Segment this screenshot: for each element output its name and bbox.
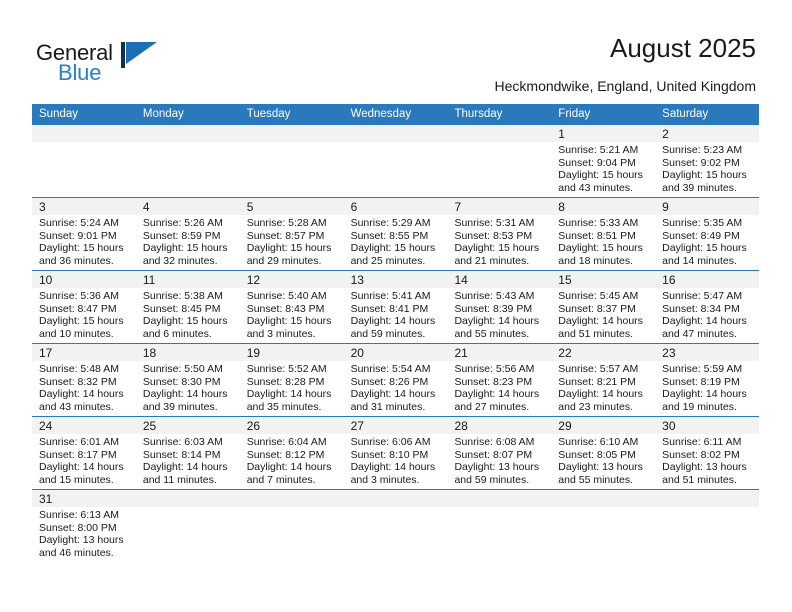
weekday-header-friday: Friday — [551, 104, 655, 125]
sunset-text: Sunset: 8:37 PM — [558, 303, 648, 316]
daylight-text-cont: and 51 minutes. — [558, 328, 648, 341]
calendar-day-cell-empty — [136, 125, 240, 197]
sunset-text: Sunset: 8:47 PM — [39, 303, 129, 316]
day-number: 6 — [351, 200, 358, 214]
day-number: 26 — [247, 419, 260, 433]
daylight-text-cont: and 31 minutes. — [351, 401, 441, 414]
day-sun-info — [655, 507, 759, 509]
day-number-band: 24 — [32, 417, 136, 434]
day-number-band: 29 — [551, 417, 655, 434]
day-number: 27 — [351, 419, 364, 433]
day-sun-info: Sunrise: 5:36 AMSunset: 8:47 PMDaylight:… — [32, 288, 136, 340]
sunrise-text: Sunrise: 5:31 AM — [454, 217, 544, 230]
daylight-text: Daylight: 13 hours — [662, 461, 752, 474]
day-number-band — [136, 125, 240, 142]
daylight-text: Daylight: 14 hours — [143, 461, 233, 474]
day-number-band: 5 — [240, 198, 344, 215]
day-sun-info: Sunrise: 6:13 AMSunset: 8:00 PMDaylight:… — [32, 507, 136, 559]
day-sun-info — [344, 142, 448, 144]
day-number: 31 — [39, 492, 52, 506]
calendar-day-cell-empty — [32, 125, 136, 197]
daylight-text-cont: and 43 minutes. — [39, 401, 129, 414]
day-sun-info: Sunrise: 5:33 AMSunset: 8:51 PMDaylight:… — [551, 215, 655, 267]
day-sun-info: Sunrise: 5:31 AMSunset: 8:53 PMDaylight:… — [447, 215, 551, 267]
day-number-band: 22 — [551, 344, 655, 361]
daylight-text-cont: and 32 minutes. — [143, 255, 233, 268]
day-sun-info — [240, 142, 344, 144]
sunrise-text: Sunrise: 6:03 AM — [143, 436, 233, 449]
day-sun-info: Sunrise: 6:04 AMSunset: 8:12 PMDaylight:… — [240, 434, 344, 486]
sunrise-text: Sunrise: 5:59 AM — [662, 363, 752, 376]
sunrise-text: Sunrise: 6:01 AM — [39, 436, 129, 449]
daylight-text-cont: and 55 minutes. — [558, 474, 648, 487]
day-sun-info: Sunrise: 5:40 AMSunset: 8:43 PMDaylight:… — [240, 288, 344, 340]
day-sun-info: Sunrise: 5:57 AMSunset: 8:21 PMDaylight:… — [551, 361, 655, 413]
day-sun-info: Sunrise: 5:43 AMSunset: 8:39 PMDaylight:… — [447, 288, 551, 340]
daylight-text-cont: and 11 minutes. — [143, 474, 233, 487]
weekday-header-saturday: Saturday — [655, 104, 759, 125]
calendar-day-cell[interactable]: 27Sunrise: 6:06 AMSunset: 8:10 PMDayligh… — [344, 417, 448, 489]
calendar-day-cell-empty — [655, 490, 759, 570]
sunset-text: Sunset: 8:51 PM — [558, 230, 648, 243]
calendar-day-cell[interactable]: 29Sunrise: 6:10 AMSunset: 8:05 PMDayligh… — [551, 417, 655, 489]
calendar-day-cell[interactable]: 22Sunrise: 5:57 AMSunset: 8:21 PMDayligh… — [551, 344, 655, 416]
sunset-text: Sunset: 8:23 PM — [454, 376, 544, 389]
sunset-text: Sunset: 8:32 PM — [39, 376, 129, 389]
calendar-day-cell[interactable]: 18Sunrise: 5:50 AMSunset: 8:30 PMDayligh… — [136, 344, 240, 416]
daylight-text: Daylight: 15 hours — [143, 315, 233, 328]
day-number-band: 27 — [344, 417, 448, 434]
day-number-band: 19 — [240, 344, 344, 361]
day-number-band — [447, 125, 551, 142]
sunset-text: Sunset: 8:12 PM — [247, 449, 337, 462]
calendar-day-cell[interactable]: 19Sunrise: 5:52 AMSunset: 8:28 PMDayligh… — [240, 344, 344, 416]
day-number-band: 21 — [447, 344, 551, 361]
day-sun-info: Sunrise: 5:24 AMSunset: 9:01 PMDaylight:… — [32, 215, 136, 267]
day-sun-info: Sunrise: 6:06 AMSunset: 8:10 PMDaylight:… — [344, 434, 448, 486]
sunrise-text: Sunrise: 5:56 AM — [454, 363, 544, 376]
calendar-day-cell[interactable]: 5Sunrise: 5:28 AMSunset: 8:57 PMDaylight… — [240, 198, 344, 270]
day-sun-info: Sunrise: 5:48 AMSunset: 8:32 PMDaylight:… — [32, 361, 136, 413]
daylight-text-cont: and 59 minutes. — [454, 474, 544, 487]
calendar-week-row: 17Sunrise: 5:48 AMSunset: 8:32 PMDayligh… — [32, 343, 759, 416]
sunset-text: Sunset: 8:19 PM — [662, 376, 752, 389]
calendar-day-cell[interactable]: 23Sunrise: 5:59 AMSunset: 8:19 PMDayligh… — [655, 344, 759, 416]
daylight-text-cont: and 25 minutes. — [351, 255, 441, 268]
day-number: 11 — [143, 273, 155, 287]
sunset-text: Sunset: 9:01 PM — [39, 230, 129, 243]
calendar-day-cell-empty — [344, 490, 448, 570]
daylight-text: Daylight: 15 hours — [39, 242, 129, 255]
calendar-day-cell-empty — [344, 125, 448, 197]
calendar-day-cell[interactable]: 8Sunrise: 5:33 AMSunset: 8:51 PMDaylight… — [551, 198, 655, 270]
daylight-text-cont: and 7 minutes. — [247, 474, 337, 487]
sunrise-text: Sunrise: 6:10 AM — [558, 436, 648, 449]
sunrise-text: Sunrise: 5:45 AM — [558, 290, 648, 303]
sunrise-text: Sunrise: 6:13 AM — [39, 509, 129, 522]
day-number-band: 23 — [655, 344, 759, 361]
daylight-text: Daylight: 15 hours — [454, 242, 544, 255]
day-number-band: 10 — [32, 271, 136, 288]
calendar-day-cell[interactable]: 14Sunrise: 5:43 AMSunset: 8:39 PMDayligh… — [447, 271, 551, 343]
sunset-text: Sunset: 8:26 PM — [351, 376, 441, 389]
day-sun-info: Sunrise: 5:35 AMSunset: 8:49 PMDaylight:… — [655, 215, 759, 267]
day-number-band: 14 — [447, 271, 551, 288]
sunset-text: Sunset: 9:04 PM — [558, 157, 648, 170]
sunrise-text: Sunrise: 6:08 AM — [454, 436, 544, 449]
daylight-text: Daylight: 13 hours — [39, 534, 129, 547]
day-number-band: 1 — [551, 125, 655, 142]
day-number-band: 12 — [240, 271, 344, 288]
daylight-text-cont: and 39 minutes. — [143, 401, 233, 414]
daylight-text: Daylight: 15 hours — [351, 242, 441, 255]
page-title: August 2025 — [610, 33, 756, 64]
page-header: General Blue August 2025 Heckmondwike, E… — [0, 0, 792, 104]
day-number: 19 — [247, 346, 260, 360]
day-sun-info: Sunrise: 5:54 AMSunset: 8:26 PMDaylight:… — [344, 361, 448, 413]
day-sun-info — [136, 142, 240, 144]
daylight-text: Daylight: 14 hours — [247, 461, 337, 474]
calendar-day-cell[interactable]: 11Sunrise: 5:38 AMSunset: 8:45 PMDayligh… — [136, 271, 240, 343]
sunrise-text: Sunrise: 5:38 AM — [143, 290, 233, 303]
day-sun-info: Sunrise: 5:28 AMSunset: 8:57 PMDaylight:… — [240, 215, 344, 267]
day-sun-info — [551, 507, 655, 509]
day-number: 18 — [143, 346, 156, 360]
day-sun-info: Sunrise: 5:45 AMSunset: 8:37 PMDaylight:… — [551, 288, 655, 340]
sunset-text: Sunset: 8:10 PM — [351, 449, 441, 462]
day-number-band: 8 — [551, 198, 655, 215]
day-number: 16 — [662, 273, 675, 287]
calendar-day-cell-empty — [551, 490, 655, 570]
day-sun-info — [344, 507, 448, 509]
day-number-band — [240, 490, 344, 507]
daylight-text: Daylight: 14 hours — [247, 388, 337, 401]
calendar-day-cell[interactable]: 24Sunrise: 6:01 AMSunset: 8:17 PMDayligh… — [32, 417, 136, 489]
weekday-header-row: Sunday Monday Tuesday Wednesday Thursday… — [32, 104, 759, 125]
sunset-text: Sunset: 8:00 PM — [39, 522, 129, 535]
daylight-text: Daylight: 13 hours — [454, 461, 544, 474]
daylight-text-cont: and 29 minutes. — [247, 255, 337, 268]
sunrise-text: Sunrise: 6:11 AM — [662, 436, 752, 449]
day-number-band — [240, 125, 344, 142]
daylight-text: Daylight: 14 hours — [143, 388, 233, 401]
day-number: 10 — [39, 273, 52, 287]
sunrise-text: Sunrise: 5:47 AM — [662, 290, 752, 303]
calendar-week-row: 3Sunrise: 5:24 AMSunset: 9:01 PMDaylight… — [32, 197, 759, 270]
sunset-text: Sunset: 8:30 PM — [143, 376, 233, 389]
calendar-day-cell[interactable]: 2Sunrise: 5:23 AMSunset: 9:02 PMDaylight… — [655, 125, 759, 197]
sunset-text: Sunset: 8:55 PM — [351, 230, 441, 243]
day-number-band: 13 — [344, 271, 448, 288]
sunset-text: Sunset: 8:53 PM — [454, 230, 544, 243]
day-sun-info: Sunrise: 6:10 AMSunset: 8:05 PMDaylight:… — [551, 434, 655, 486]
sunrise-text: Sunrise: 5:24 AM — [39, 217, 129, 230]
day-sun-info: Sunrise: 5:50 AMSunset: 8:30 PMDaylight:… — [136, 361, 240, 413]
day-number: 8 — [558, 200, 565, 214]
daylight-text: Daylight: 15 hours — [39, 315, 129, 328]
sunset-text: Sunset: 8:02 PM — [662, 449, 752, 462]
daylight-text: Daylight: 14 hours — [351, 461, 441, 474]
day-sun-info: Sunrise: 6:03 AMSunset: 8:14 PMDaylight:… — [136, 434, 240, 486]
sunrise-text: Sunrise: 5:21 AM — [558, 144, 648, 157]
day-sun-info: Sunrise: 5:21 AMSunset: 9:04 PMDaylight:… — [551, 142, 655, 194]
sunrise-text: Sunrise: 6:06 AM — [351, 436, 441, 449]
calendar-day-cell[interactable]: 1Sunrise: 5:21 AMSunset: 9:04 PMDaylight… — [551, 125, 655, 197]
day-sun-info — [447, 507, 551, 509]
day-sun-info: Sunrise: 5:23 AMSunset: 9:02 PMDaylight:… — [655, 142, 759, 194]
sunset-text: Sunset: 8:21 PM — [558, 376, 648, 389]
day-sun-info: Sunrise: 5:59 AMSunset: 8:19 PMDaylight:… — [655, 361, 759, 413]
calendar-day-cell[interactable]: 16Sunrise: 5:47 AMSunset: 8:34 PMDayligh… — [655, 271, 759, 343]
daylight-text-cont: and 3 minutes. — [247, 328, 337, 341]
day-number: 1 — [558, 127, 565, 141]
sunrise-text: Sunrise: 5:54 AM — [351, 363, 441, 376]
brand-logo[interactable]: General Blue — [36, 40, 216, 88]
daylight-text-cont: and 18 minutes. — [558, 255, 648, 268]
daylight-text-cont: and 35 minutes. — [247, 401, 337, 414]
day-number-band: 16 — [655, 271, 759, 288]
calendar-weeks: 1Sunrise: 5:21 AMSunset: 9:04 PMDaylight… — [32, 125, 759, 570]
day-number-band: 25 — [136, 417, 240, 434]
daylight-text-cont: and 21 minutes. — [454, 255, 544, 268]
day-number: 15 — [558, 273, 571, 287]
sunrise-text: Sunrise: 5:41 AM — [351, 290, 441, 303]
day-number: 21 — [454, 346, 467, 360]
daylight-text-cont: and 27 minutes. — [454, 401, 544, 414]
day-sun-info: Sunrise: 5:41 AMSunset: 8:41 PMDaylight:… — [344, 288, 448, 340]
calendar-day-cell[interactable]: 12Sunrise: 5:40 AMSunset: 8:43 PMDayligh… — [240, 271, 344, 343]
sunrise-text: Sunrise: 5:52 AM — [247, 363, 337, 376]
sunset-text: Sunset: 8:45 PM — [143, 303, 233, 316]
daylight-text: Daylight: 15 hours — [247, 315, 337, 328]
day-number: 7 — [454, 200, 461, 214]
day-number: 14 — [454, 273, 467, 287]
day-sun-info: Sunrise: 5:29 AMSunset: 8:55 PMDaylight:… — [344, 215, 448, 267]
weekday-header-monday: Monday — [136, 104, 240, 125]
day-number-band: 18 — [136, 344, 240, 361]
brand-name-blue: Blue — [58, 60, 101, 86]
day-number-band: 15 — [551, 271, 655, 288]
daylight-text-cont: and 19 minutes. — [662, 401, 752, 414]
sunrise-text: Sunrise: 5:40 AM — [247, 290, 337, 303]
sunrise-text: Sunrise: 5:48 AM — [39, 363, 129, 376]
day-number-band: 26 — [240, 417, 344, 434]
daylight-text-cont: and 23 minutes. — [558, 401, 648, 414]
sunset-text: Sunset: 8:57 PM — [247, 230, 337, 243]
day-sun-info — [447, 142, 551, 144]
calendar-day-cell[interactable]: 9Sunrise: 5:35 AMSunset: 8:49 PMDaylight… — [655, 198, 759, 270]
calendar-day-cell-empty — [240, 490, 344, 570]
day-number-band: 31 — [32, 490, 136, 507]
calendar-day-cell[interactable]: 28Sunrise: 6:08 AMSunset: 8:07 PMDayligh… — [447, 417, 551, 489]
calendar-day-cell-empty — [447, 490, 551, 570]
calendar-day-cell[interactable]: 30Sunrise: 6:11 AMSunset: 8:02 PMDayligh… — [655, 417, 759, 489]
daylight-text: Daylight: 15 hours — [143, 242, 233, 255]
day-sun-info — [240, 507, 344, 509]
daylight-text: Daylight: 15 hours — [662, 169, 752, 182]
daylight-text-cont: and 55 minutes. — [454, 328, 544, 341]
day-number: 5 — [247, 200, 254, 214]
calendar-day-cell-empty — [136, 490, 240, 570]
sunset-text: Sunset: 8:14 PM — [143, 449, 233, 462]
day-sun-info: Sunrise: 6:01 AMSunset: 8:17 PMDaylight:… — [32, 434, 136, 486]
daylight-text: Daylight: 14 hours — [39, 461, 129, 474]
day-number-band — [655, 490, 759, 507]
day-number-band — [551, 490, 655, 507]
sunrise-text: Sunrise: 5:23 AM — [662, 144, 752, 157]
daylight-text-cont: and 15 minutes. — [39, 474, 129, 487]
day-number-band: 11 — [136, 271, 240, 288]
day-number: 30 — [662, 419, 675, 433]
day-number-band — [344, 125, 448, 142]
weekday-header-wednesday: Wednesday — [344, 104, 448, 125]
day-number-band: 17 — [32, 344, 136, 361]
day-number-band: 30 — [655, 417, 759, 434]
day-number-band: 3 — [32, 198, 136, 215]
sunrise-text: Sunrise: 5:36 AM — [39, 290, 129, 303]
calendar-week-row: 31Sunrise: 6:13 AMSunset: 8:00 PMDayligh… — [32, 489, 759, 570]
sunset-text: Sunset: 8:59 PM — [143, 230, 233, 243]
logo-bar-shape — [121, 42, 125, 68]
day-number: 24 — [39, 419, 52, 433]
day-sun-info: Sunrise: 5:56 AMSunset: 8:23 PMDaylight:… — [447, 361, 551, 413]
day-number: 4 — [143, 200, 150, 214]
sunrise-text: Sunrise: 5:43 AM — [454, 290, 544, 303]
daylight-text-cont: and 3 minutes. — [351, 474, 441, 487]
sunset-text: Sunset: 8:41 PM — [351, 303, 441, 316]
daylight-text-cont: and 6 minutes. — [143, 328, 233, 341]
sunrise-text: Sunrise: 5:26 AM — [143, 217, 233, 230]
day-number-band — [136, 490, 240, 507]
day-sun-info: Sunrise: 5:26 AMSunset: 8:59 PMDaylight:… — [136, 215, 240, 267]
sunset-text: Sunset: 8:05 PM — [558, 449, 648, 462]
sunset-text: Sunset: 9:02 PM — [662, 157, 752, 170]
daylight-text: Daylight: 14 hours — [558, 315, 648, 328]
day-number: 25 — [143, 419, 156, 433]
sunrise-text: Sunrise: 5:35 AM — [662, 217, 752, 230]
day-sun-info: Sunrise: 5:52 AMSunset: 8:28 PMDaylight:… — [240, 361, 344, 413]
day-number: 23 — [662, 346, 675, 360]
sunrise-text: Sunrise: 5:29 AM — [351, 217, 441, 230]
daylight-text-cont: and 47 minutes. — [662, 328, 752, 341]
daylight-text-cont: and 39 minutes. — [662, 182, 752, 195]
daylight-text: Daylight: 15 hours — [558, 169, 648, 182]
logo-triangle-shape — [126, 42, 157, 64]
day-number-band: 6 — [344, 198, 448, 215]
calendar-week-row: 24Sunrise: 6:01 AMSunset: 8:17 PMDayligh… — [32, 416, 759, 489]
sunrise-text: Sunrise: 5:33 AM — [558, 217, 648, 230]
sunset-text: Sunset: 8:43 PM — [247, 303, 337, 316]
calendar-day-cell-empty — [447, 125, 551, 197]
day-sun-info: Sunrise: 6:11 AMSunset: 8:02 PMDaylight:… — [655, 434, 759, 486]
weekday-header-tuesday: Tuesday — [240, 104, 344, 125]
day-number-band: 9 — [655, 198, 759, 215]
day-number-band: 4 — [136, 198, 240, 215]
daylight-text-cont: and 10 minutes. — [39, 328, 129, 341]
daylight-text: Daylight: 14 hours — [39, 388, 129, 401]
daylight-text-cont: and 14 minutes. — [662, 255, 752, 268]
sunset-text: Sunset: 8:28 PM — [247, 376, 337, 389]
daylight-text: Daylight: 14 hours — [351, 388, 441, 401]
daylight-text: Daylight: 15 hours — [247, 242, 337, 255]
calendar-day-cell[interactable]: 13Sunrise: 5:41 AMSunset: 8:41 PMDayligh… — [344, 271, 448, 343]
day-number: 12 — [247, 273, 260, 287]
sunrise-text: Sunrise: 6:04 AM — [247, 436, 337, 449]
sunrise-text: Sunrise: 5:57 AM — [558, 363, 648, 376]
day-number: 2 — [662, 127, 669, 141]
daylight-text-cont: and 43 minutes. — [558, 182, 648, 195]
day-sun-info: Sunrise: 6:08 AMSunset: 8:07 PMDaylight:… — [447, 434, 551, 486]
daylight-text-cont: and 59 minutes. — [351, 328, 441, 341]
weekday-header-sunday: Sunday — [32, 104, 136, 125]
day-number: 13 — [351, 273, 364, 287]
day-number-band — [344, 490, 448, 507]
sunrise-text: Sunrise: 5:50 AM — [143, 363, 233, 376]
flag-triangle-icon — [121, 42, 159, 68]
calendar-day-cell[interactable]: 21Sunrise: 5:56 AMSunset: 8:23 PMDayligh… — [447, 344, 551, 416]
calendar-day-cell[interactable]: 7Sunrise: 5:31 AMSunset: 8:53 PMDaylight… — [447, 198, 551, 270]
calendar-week-row: 1Sunrise: 5:21 AMSunset: 9:04 PMDaylight… — [32, 125, 759, 197]
day-number-band: 7 — [447, 198, 551, 215]
calendar-day-cell[interactable]: 31Sunrise: 6:13 AMSunset: 8:00 PMDayligh… — [32, 490, 136, 570]
day-sun-info — [32, 142, 136, 144]
daylight-text: Daylight: 14 hours — [558, 388, 648, 401]
daylight-text-cont: and 36 minutes. — [39, 255, 129, 268]
day-number-band — [447, 490, 551, 507]
day-number-band: 28 — [447, 417, 551, 434]
calendar-day-cell[interactable]: 25Sunrise: 6:03 AMSunset: 8:14 PMDayligh… — [136, 417, 240, 489]
sunset-text: Sunset: 8:34 PM — [662, 303, 752, 316]
daylight-text: Daylight: 14 hours — [454, 388, 544, 401]
calendar-day-cell[interactable]: 10Sunrise: 5:36 AMSunset: 8:47 PMDayligh… — [32, 271, 136, 343]
day-sun-info — [136, 507, 240, 509]
daylight-text: Daylight: 15 hours — [662, 242, 752, 255]
day-number: 17 — [39, 346, 52, 360]
calendar-day-cell[interactable]: 15Sunrise: 5:45 AMSunset: 8:37 PMDayligh… — [551, 271, 655, 343]
day-number: 22 — [558, 346, 571, 360]
daylight-text: Daylight: 14 hours — [662, 388, 752, 401]
day-sun-info: Sunrise: 5:47 AMSunset: 8:34 PMDaylight:… — [655, 288, 759, 340]
day-number-band: 20 — [344, 344, 448, 361]
sunset-text: Sunset: 8:17 PM — [39, 449, 129, 462]
calendar-day-cell[interactable]: 26Sunrise: 6:04 AMSunset: 8:12 PMDayligh… — [240, 417, 344, 489]
sunset-text: Sunset: 8:49 PM — [662, 230, 752, 243]
day-number: 9 — [662, 200, 669, 214]
calendar-table: Sunday Monday Tuesday Wednesday Thursday… — [32, 104, 759, 570]
calendar-day-cell[interactable]: 20Sunrise: 5:54 AMSunset: 8:26 PMDayligh… — [344, 344, 448, 416]
daylight-text-cont: and 46 minutes. — [39, 547, 129, 560]
sunset-text: Sunset: 8:39 PM — [454, 303, 544, 316]
weekday-header-thursday: Thursday — [447, 104, 551, 125]
day-number-band: 2 — [655, 125, 759, 142]
daylight-text: Daylight: 14 hours — [454, 315, 544, 328]
calendar-page: General Blue August 2025 Heckmondwike, E… — [0, 0, 792, 612]
calendar-day-cell[interactable]: 4Sunrise: 5:26 AMSunset: 8:59 PMDaylight… — [136, 198, 240, 270]
calendar-day-cell[interactable]: 3Sunrise: 5:24 AMSunset: 9:01 PMDaylight… — [32, 198, 136, 270]
sunset-text: Sunset: 8:07 PM — [454, 449, 544, 462]
sunrise-text: Sunrise: 5:28 AM — [247, 217, 337, 230]
calendar-day-cell-empty — [240, 125, 344, 197]
calendar-week-row: 10Sunrise: 5:36 AMSunset: 8:47 PMDayligh… — [32, 270, 759, 343]
daylight-text: Daylight: 14 hours — [662, 315, 752, 328]
page-subtitle: Heckmondwike, England, United Kingdom — [495, 78, 756, 94]
calendar-day-cell[interactable]: 6Sunrise: 5:29 AMSunset: 8:55 PMDaylight… — [344, 198, 448, 270]
day-number: 29 — [558, 419, 571, 433]
calendar-day-cell[interactable]: 17Sunrise: 5:48 AMSunset: 8:32 PMDayligh… — [32, 344, 136, 416]
daylight-text: Daylight: 15 hours — [558, 242, 648, 255]
daylight-text: Daylight: 13 hours — [558, 461, 648, 474]
daylight-text-cont: and 51 minutes. — [662, 474, 752, 487]
